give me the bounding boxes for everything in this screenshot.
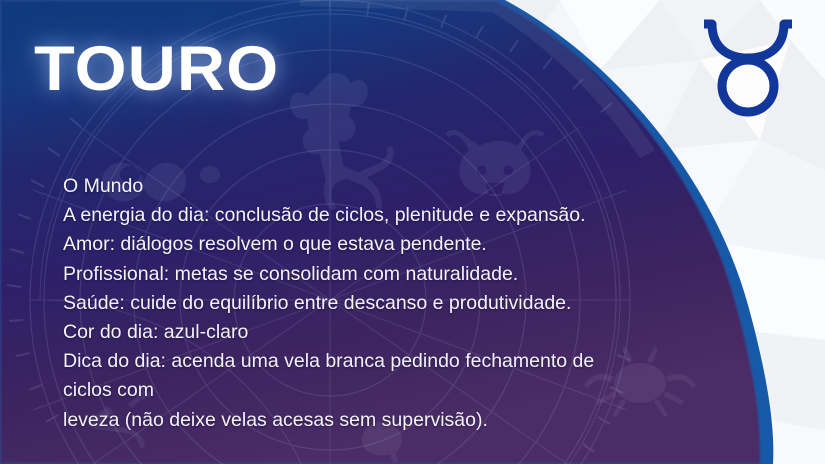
horoscope-line: Amor: diálogos resolvem o que estava pen… [63,230,623,259]
horoscope-text: O Mundo A energia do dia: conclusão de c… [63,172,623,435]
horoscope-line: leveza (não deixe velas acesas sem super… [63,406,623,435]
taurus-glyph-icon [694,14,802,122]
horoscope-line: A energia do dia: conclusão de ciclos, p… [63,201,623,230]
horoscope-line: Profissional: metas se consolidam com na… [63,260,623,289]
horoscope-line: Dica do dia: acenda uma vela branca pedi… [63,347,623,405]
horoscope-line: O Mundo [63,172,623,201]
page-title: TOURO [34,38,279,101]
horoscope-line: Cor do dia: azul-claro [63,318,623,347]
horoscope-line: Saúde: cuide do equilíbrio entre descans… [63,289,623,318]
horoscope-card: TOURO O Mundo A energia do dia: conclusã… [0,0,825,464]
